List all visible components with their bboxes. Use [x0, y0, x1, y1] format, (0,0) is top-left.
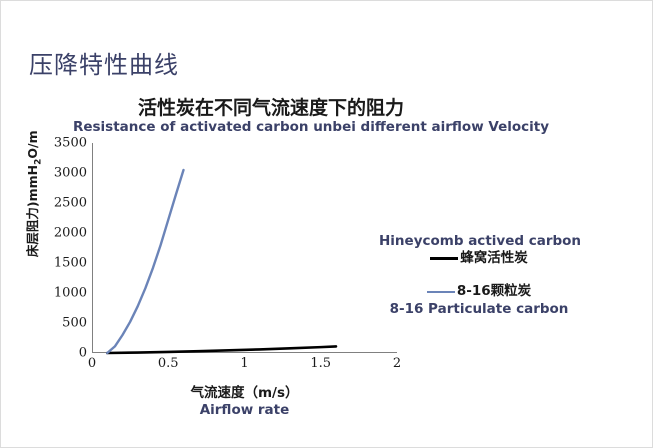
- y-axis-tick-1000: 1000: [39, 286, 87, 301]
- legend-label-particulate-cn: 8-16颗粒炭: [457, 283, 531, 301]
- x-axis-tick-1-5: 1.5: [301, 356, 341, 371]
- legend-group-honeycomb: Hineycomb actived carbon 蜂窝活性炭: [379, 233, 579, 267]
- legend-entry-honeycomb[interactable]: 蜂窝活性炭: [379, 250, 579, 268]
- series-line-particulate: [107, 170, 183, 353]
- legend-swatch-black-line-icon: [430, 257, 458, 260]
- y-axis-tick-2500: 2500: [39, 196, 87, 211]
- y-axis-tick-3500: 3500: [39, 136, 87, 151]
- y-axis-tick-500: 500: [39, 316, 87, 331]
- legend-label-honeycomb-cn: 蜂窝活性炭: [460, 250, 528, 268]
- y-axis-title-main: 床层阻力)mmH: [25, 165, 40, 257]
- y-axis-tick-labels: 0500100015002000250030003500: [37, 143, 87, 353]
- x-axis-tick-1: 1: [225, 356, 265, 371]
- legend-label-particulate-en: 8-16 Particulate carbon: [379, 301, 579, 318]
- y-axis-title-subscript: 2: [33, 159, 43, 165]
- slide-canvas: 压降特性曲线 活性炭在不同气流速度下的阻力 Resistance of acti…: [0, 0, 653, 448]
- y-axis-tick-1500: 1500: [39, 256, 87, 271]
- series-lines: [92, 143, 397, 353]
- x-axis-title-chinese: 气流速度（m/s）: [92, 381, 397, 401]
- plot-area: [92, 143, 397, 353]
- x-axis-tick-0-5: 0.5: [148, 356, 188, 371]
- y-axis-tick-2000: 2000: [39, 226, 87, 241]
- chart-title-chinese: 活性炭在不同气流速度下的阻力: [1, 93, 541, 120]
- y-axis-title-tail: O/m: [25, 130, 40, 158]
- legend-swatch-blue-line-icon: [427, 291, 455, 293]
- y-axis-title: 床层阻力)mmH2O/m: [22, 106, 44, 281]
- series-line-honeycomb: [107, 346, 336, 353]
- x-axis-tick-labels: 00.511.52: [92, 356, 402, 376]
- legend-label-honeycomb-en: Hineycomb actived carbon: [379, 233, 579, 250]
- chart-title-english: Resistance of activated carbon unbei dif…: [1, 119, 621, 135]
- chart-container: 活性炭在不同气流速度下的阻力 Resistance of activated c…: [1, 1, 653, 448]
- y-axis-tick-3000: 3000: [39, 166, 87, 181]
- chart-legend: Hineycomb actived carbon 蜂窝活性炭 8-16颗粒炭 8…: [379, 233, 579, 318]
- x-axis-tick-0: 0: [72, 356, 112, 371]
- x-axis-tick-2: 2: [377, 356, 417, 371]
- legend-group-particulate: 8-16颗粒炭 8-16 Particulate carbon: [379, 283, 579, 317]
- legend-entry-particulate[interactable]: 8-16颗粒炭: [379, 283, 579, 301]
- x-axis-title-english: Airflow rate: [92, 402, 397, 418]
